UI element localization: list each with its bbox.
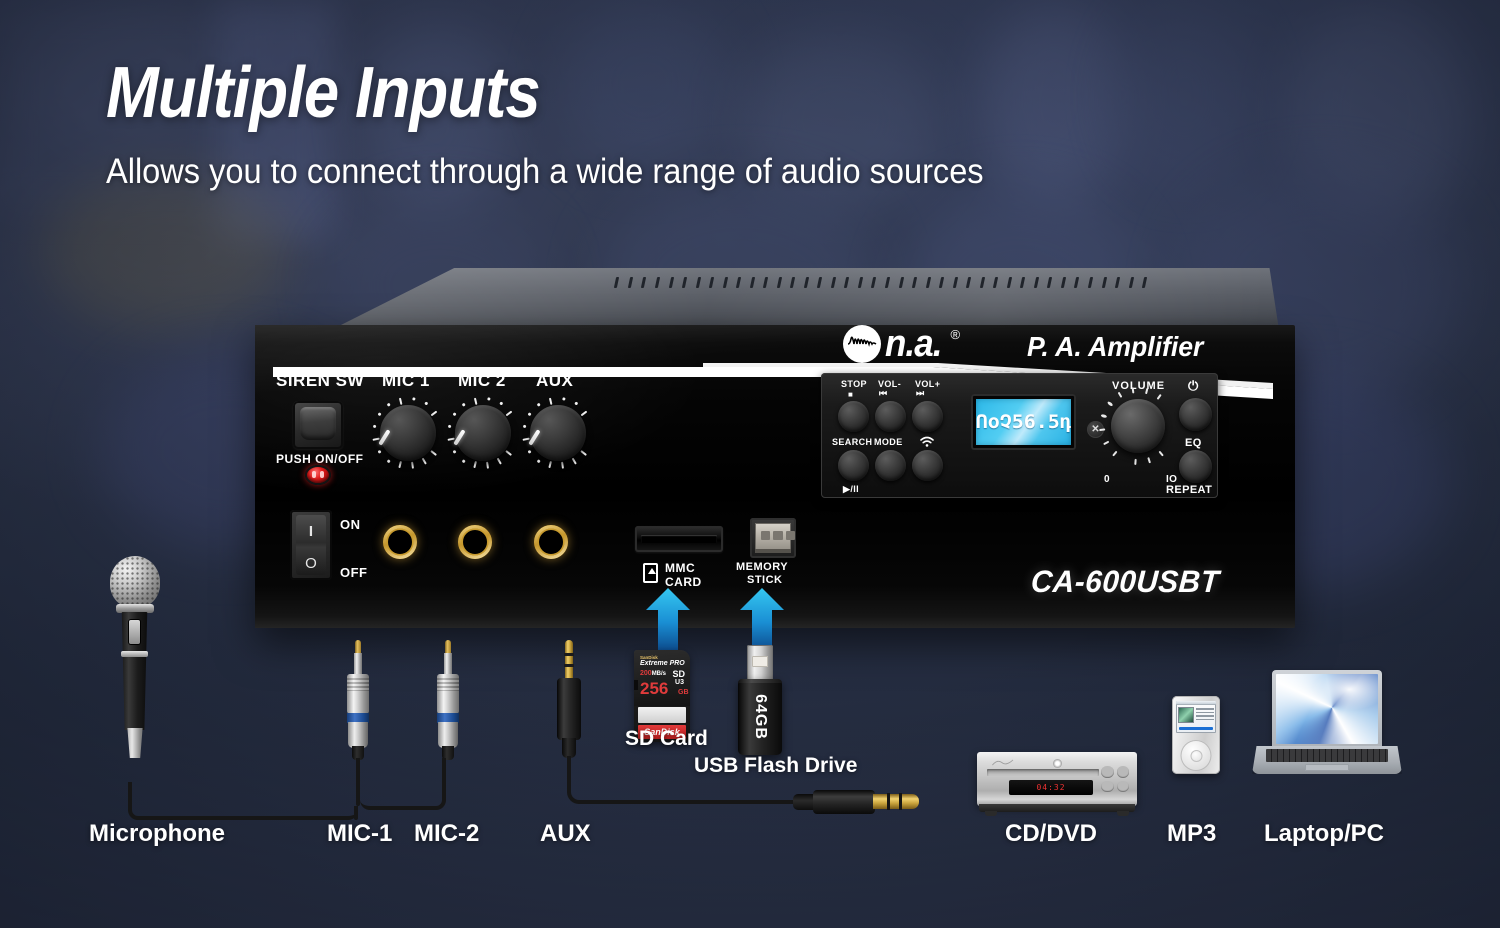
plug-shaft [354, 653, 362, 675]
grille-mesh [110, 556, 160, 608]
siren-push-button[interactable] [293, 401, 343, 449]
sd-logo-mark: SD [672, 669, 685, 679]
cd-player-buttons[interactable] [1101, 766, 1129, 792]
sd-card-caption: SD Card [625, 727, 708, 751]
microphone-band [116, 604, 154, 613]
aux-35mm-plug-far-end [813, 789, 933, 815]
lcd-display: ՈօՉ56.5դ [971, 394, 1076, 450]
usb-drive-insert-arrow-icon [740, 588, 784, 650]
cd-player-foot [985, 811, 997, 816]
laptop-caption: Laptop/PC [1264, 820, 1384, 848]
power-led-indicator [305, 465, 331, 485]
mic1-volume-knob[interactable] [372, 397, 444, 469]
disc-indicator-icon [1053, 759, 1062, 768]
microphone-ring [121, 651, 148, 657]
plug-strain-relief [562, 738, 576, 758]
laptop-pc [1252, 670, 1402, 778]
mp3-player [1172, 696, 1220, 774]
mmc-card-slot[interactable] [635, 526, 723, 552]
usb-drive-body: 64GB [738, 679, 782, 755]
plug-tip-gold [565, 640, 573, 680]
control-module: STOP ■ VOL- ⏮ VOL+ ⏭ SEARCH ▶/II MODE [821, 373, 1218, 498]
lcd-readout-text: ՈօՉ56.5դ [975, 411, 1071, 433]
laptop-keyboard[interactable] [1266, 749, 1388, 762]
plug-shaft [444, 653, 452, 675]
mp3-screen [1176, 701, 1216, 733]
mp3-progress-bar [1179, 727, 1213, 730]
mic2-quarter-inch-plug [434, 640, 462, 760]
aux-volume-knob[interactable] [522, 397, 594, 469]
aux-caption: AUX [540, 820, 591, 848]
plug-barrel [347, 674, 369, 714]
click-wheel[interactable] [1181, 740, 1212, 771]
usb-drive-caption: USB Flash Drive [694, 754, 857, 778]
plug-tip-gold [873, 794, 919, 809]
mp3-caption: MP3 [1167, 820, 1216, 848]
microphone-cable [128, 782, 358, 820]
sd-card-notch [634, 680, 638, 690]
bluetooth-wifi-icon [919, 435, 935, 447]
plug-tip [445, 640, 451, 654]
plug-strain-relief [793, 794, 815, 810]
repeat-button-label: REPEAT [1166, 484, 1212, 496]
previous-track-icon: ⏮ [879, 388, 888, 399]
microphone-cable-run [354, 806, 358, 820]
usb-contacts [761, 531, 795, 540]
siren-sw-label: SIREN SW [276, 371, 364, 391]
mic2-knob-label: MIC 2 [458, 371, 506, 391]
aux-35mm-plug [556, 640, 582, 760]
cd-player-base [979, 804, 1135, 812]
sd-speed-label: 200MB/s [640, 670, 666, 677]
memory-stick-label-line2: STICK [747, 574, 783, 586]
usb-memory-stick-port[interactable] [750, 518, 796, 558]
cd-player-foot [1117, 811, 1129, 816]
sd-speed-unit: MB/s [652, 671, 666, 677]
aux-input-jack[interactable] [534, 525, 568, 559]
next-track-icon: ⏭ [916, 388, 925, 399]
cd-brand-logo-icon [991, 758, 1017, 767]
stop-icon: ■ [848, 390, 853, 399]
plug-barrel [437, 674, 459, 714]
plug-body [813, 790, 875, 814]
power-on-label: ON [340, 517, 361, 532]
rocker-on-glyph: I [290, 523, 332, 540]
amplifier-top-cover [331, 268, 1279, 330]
laptop-trackpad[interactable] [1305, 764, 1349, 771]
lcd-screen: ՈօՉ56.5դ [976, 399, 1071, 445]
cd-display-text: 04:32 [1036, 783, 1065, 792]
power-off-label: OFF [340, 565, 368, 580]
power-rocker-switch[interactable]: I O [290, 510, 332, 580]
vol-down-button[interactable] [875, 401, 906, 432]
power-icon: ⏻ [1188, 378, 1199, 394]
brand-wordmark: n.a. [885, 325, 942, 363]
aux-knob-label: AUX [536, 371, 573, 391]
laptop-screen [1276, 674, 1378, 744]
sd-white-strip [638, 707, 686, 723]
push-on-off-label: PUSH ON/OFF [276, 452, 364, 466]
play-pause-label: ▶/II [843, 484, 859, 495]
plug-body [557, 678, 581, 740]
waveform-icon [847, 333, 877, 355]
mic2-cable [360, 758, 446, 810]
plug-end [348, 722, 368, 748]
plug-tip [355, 640, 361, 654]
microphone-caption: Microphone [89, 820, 225, 848]
mic2-input-jack[interactable] [458, 525, 492, 559]
master-volume-knob[interactable] [1111, 399, 1165, 453]
usb-connector [747, 645, 773, 683]
mmc-card-label-line2: CARD [665, 575, 702, 589]
cd-dvd-player: 04:32 [977, 752, 1137, 806]
page-title: Multiple Inputs [106, 52, 540, 134]
album-art-thumbnail [1179, 708, 1193, 722]
memory-stick-label-line1: MEMORY [736, 561, 788, 573]
rocker-off-glyph: O [290, 555, 332, 572]
sd-uhs-mark: U3 [675, 679, 684, 686]
amplifier-front-panel: SIREN SW PUSH ON/OFF I O ON OFF MIC 1 [255, 325, 1295, 628]
amplifier-unit: SIREN SW PUSH ON/OFF I O ON OFF MIC 1 [255, 268, 1295, 633]
stop-button[interactable] [838, 401, 869, 432]
bluetooth-button[interactable] [912, 450, 943, 481]
microphone-grille [110, 556, 160, 608]
mic1-input-jack[interactable] [383, 525, 417, 559]
volume-min-label: 0 [1104, 474, 1110, 485]
vol-up-button[interactable] [912, 401, 943, 432]
sd-extreme-pro-label: Extreme PRO [640, 660, 685, 667]
cd-disc-tray[interactable] [987, 769, 1099, 776]
microphone-switch[interactable] [129, 620, 140, 644]
sd-card-insert-arrow-icon [646, 588, 690, 650]
mic2-caption: MIC-2 [414, 820, 479, 848]
mic2-volume-knob[interactable] [447, 397, 519, 469]
cd-dvd-caption: CD/DVD [1005, 820, 1097, 848]
brand-logo: n.a. ® [843, 325, 960, 363]
plug-end [438, 722, 458, 748]
mic1-caption: MIC-1 [327, 820, 392, 848]
microphone-tail [125, 728, 145, 758]
mode-button[interactable] [875, 450, 906, 481]
eq-button[interactable] [1179, 450, 1212, 483]
search-button-label: SEARCH [832, 437, 872, 447]
mic1-knob-label: MIC 1 [382, 371, 430, 391]
mp3-title-bar [1176, 701, 1216, 705]
eq-button-label: EQ [1185, 437, 1202, 449]
power-button[interactable] [1179, 398, 1212, 431]
cd-display: 04:32 [1009, 780, 1093, 795]
mic1-quarter-inch-plug [344, 640, 372, 760]
stop-button-label: STOP [841, 379, 867, 389]
memory-card-icon [643, 563, 658, 583]
sd-capacity-value: 256 [640, 680, 668, 697]
sd-capacity-unit: GB [678, 689, 689, 696]
microphone [104, 556, 164, 786]
usb-capacity-label: 64GB [751, 694, 769, 740]
registered-trademark-icon: ® [950, 327, 960, 342]
vent-slots [615, 277, 1146, 288]
waveform-logo-icon [843, 325, 881, 363]
usb-drive-collar [738, 679, 782, 683]
mp3-track-info-lines [1196, 708, 1214, 722]
laptop-lid [1272, 670, 1382, 748]
sd-speed-value: 200 [640, 670, 652, 677]
mode-button-label: MODE [874, 437, 903, 447]
model-number-label: CA-600USBT [1030, 564, 1221, 600]
search-button[interactable] [838, 450, 869, 481]
product-type-label: P. A. Amplifier [1027, 331, 1203, 363]
mmc-card-label-line1: MMC [665, 561, 695, 575]
page-subtitle: Allows you to connect through a wide ran… [106, 152, 984, 192]
usb-flash-drive: 64GB [738, 645, 782, 755]
